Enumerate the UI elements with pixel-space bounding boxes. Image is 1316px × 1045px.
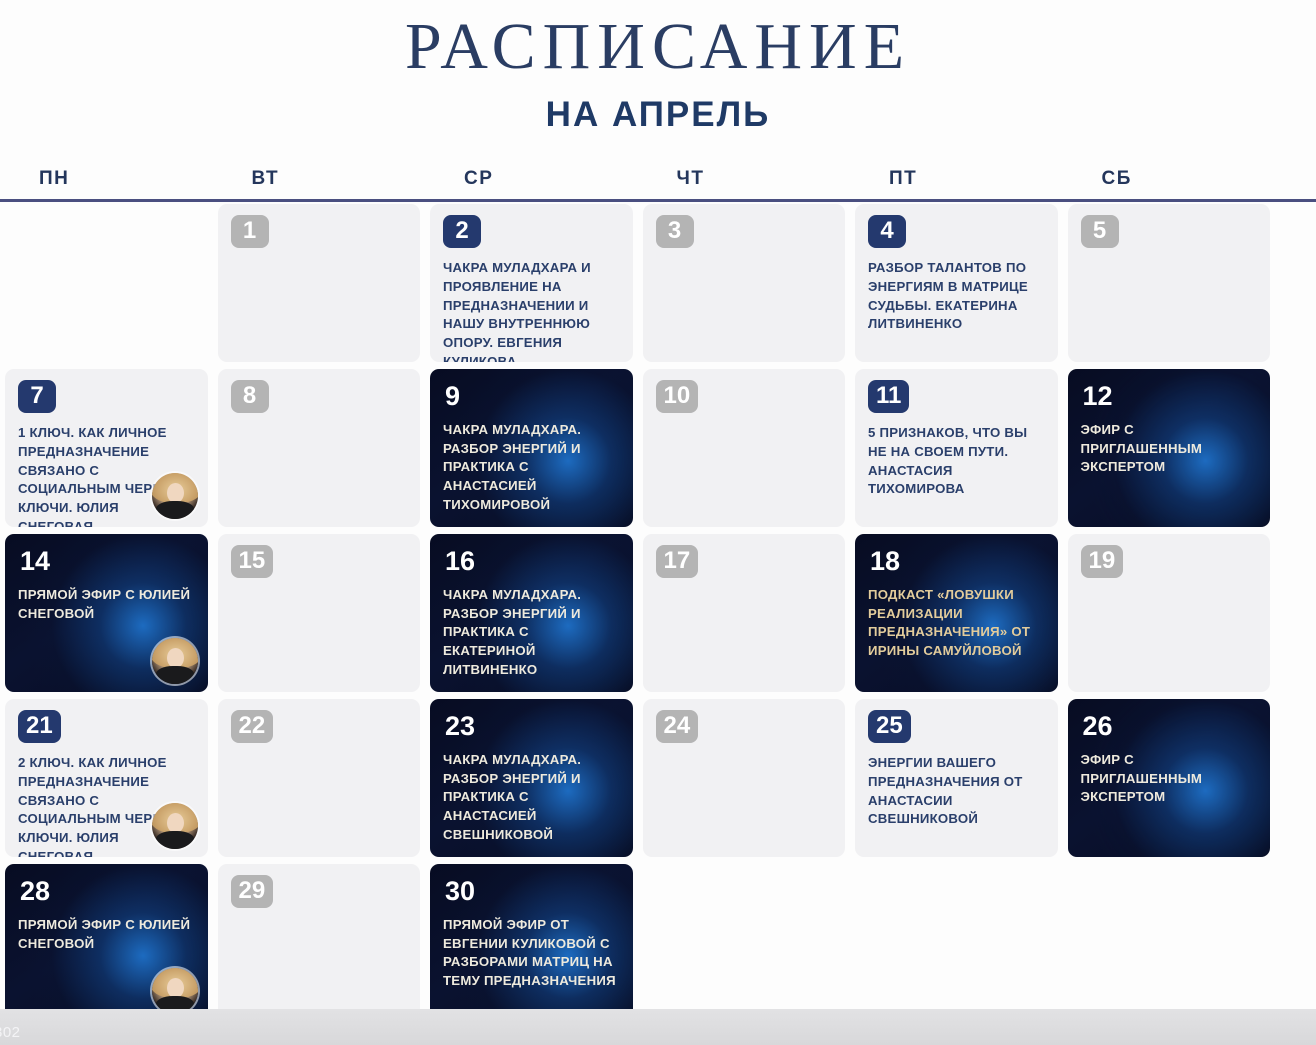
avatar-body — [156, 501, 194, 519]
date-number: 18 — [868, 545, 1045, 575]
avatar — [152, 968, 198, 1014]
event-description: ПОДКАСТ «ЛОВУШКИ РЕАЛИЗАЦИИ ПРЕДНАЗНАЧЕН… — [868, 586, 1045, 661]
avatar — [152, 473, 198, 519]
page-subtitle: НА АПРЕЛЬ — [0, 95, 1316, 135]
calendar-cell: 18ПОДКАСТ «ЛОВУШКИ РЕАЛИЗАЦИИ ПРЕДНАЗНАЧ… — [850, 532, 1063, 697]
event-card[interactable]: 14ПРЯМОЙ ЭФИР С ЮЛИЕЙ СНЕГОВОЙ — [5, 534, 208, 692]
calendar-cell: 8 — [213, 367, 426, 532]
event-card[interactable]: 115 ПРИЗНАКОВ, ЧТО ВЫ НЕ НА СВОЕМ ПУТИ. … — [855, 369, 1058, 527]
weekday-header-пн: ПН — [0, 168, 213, 202]
empty-slot — [643, 864, 846, 1022]
empty-slot — [1280, 699, 1316, 857]
calendar-cell: 19 — [1063, 532, 1276, 697]
weekday-header-row: ПНВТСРЧТПТСБ — [0, 168, 1316, 202]
avatar-body — [156, 831, 194, 849]
weekday-header-сб: СБ — [1063, 168, 1276, 202]
day-card: 22 — [218, 699, 421, 857]
event-description: ЧАКРА МУЛАДХАРА И ПРОЯВЛЕНИЕ НА ПРЕДНАЗН… — [443, 259, 620, 362]
calendar-cell — [1275, 202, 1316, 367]
date-number: 12 — [1081, 380, 1258, 410]
calendar-cell: 9ЧАКРА МУЛАДХАРА. РАЗБОР ЭНЕРГИЙ И ПРАКТ… — [425, 367, 638, 532]
date-badge: 4 — [868, 215, 906, 248]
event-card[interactable]: 9ЧАКРА МУЛАДХАРА. РАЗБОР ЭНЕРГИЙ И ПРАКТ… — [430, 369, 633, 527]
calendar-cell: 4РАЗБОР ТАЛАНТОВ ПО ЭНЕРГИЯМ В МАТРИЦЕ С… — [850, 202, 1063, 367]
calendar-cell: 10 — [638, 367, 851, 532]
day-card: 24 — [643, 699, 846, 857]
calendar-cell: 2ЧАКРА МУЛАДХАРА И ПРОЯВЛЕНИЕ НА ПРЕДНАЗ… — [425, 202, 638, 367]
day-card: 3 — [643, 204, 846, 362]
date-badge: 2 — [443, 215, 481, 248]
event-card[interactable]: 23ЧАКРА МУЛАДХАРА. РАЗБОР ЭНЕРГИЙ И ПРАК… — [430, 699, 633, 857]
empty-slot — [1068, 864, 1271, 1022]
event-description: ПРЯМОЙ ЭФИР С ЮЛИЕЙ СНЕГОВОЙ — [18, 586, 195, 623]
calendar-cell — [1275, 697, 1316, 862]
event-card[interactable]: 12ЭФИР С ПРИГЛАШЕННЫМ ЭКСПЕРТОМ — [1068, 369, 1271, 527]
date-badge: 3 — [656, 215, 694, 248]
avatar-face — [167, 813, 184, 833]
calendar-cell: 16ЧАКРА МУЛАДХАРА. РАЗБОР ЭНЕРГИЙ И ПРАК… — [425, 532, 638, 697]
date-badge: 5 — [1081, 215, 1119, 248]
cut-off-label: 302 — [0, 1024, 21, 1041]
empty-slot — [1280, 534, 1316, 692]
day-card: 10 — [643, 369, 846, 527]
avatar — [152, 803, 198, 849]
calendar-cell — [638, 862, 851, 1027]
event-description: 5 ПРИЗНАКОВ, ЧТО ВЫ НЕ НА СВОЕМ ПУТИ. АН… — [868, 424, 1045, 499]
day-card: 29 — [218, 864, 421, 1022]
day-card: 5 — [1068, 204, 1271, 362]
date-badge: 24 — [656, 710, 699, 743]
empty-slot — [1280, 864, 1316, 1022]
date-badge: 7 — [18, 380, 56, 413]
calendar-cell — [1275, 367, 1316, 532]
day-card: 8 — [218, 369, 421, 527]
date-number: 14 — [18, 545, 195, 575]
event-card[interactable]: 28ПРЯМОЙ ЭФИР С ЮЛИЕЙ СНЕГОВОЙ — [5, 864, 208, 1022]
event-description: ЭФИР С ПРИГЛАШЕННЫМ ЭКСПЕРТОМ — [1081, 421, 1258, 477]
event-description: ЭНЕРГИИ ВАШЕГО ПРЕДНАЗНАЧЕНИЯ ОТ АНАСТАС… — [868, 754, 1045, 829]
avatar — [152, 638, 198, 684]
date-number: 30 — [443, 875, 620, 905]
event-description: ПРЯМОЙ ЭФИР ОТ ЕВГЕНИИ КУЛИКОВОЙ С РАЗБО… — [443, 916, 620, 991]
date-badge: 15 — [231, 545, 274, 578]
avatar-face — [167, 483, 184, 503]
event-card[interactable]: 18ПОДКАСТ «ЛОВУШКИ РЕАЛИЗАЦИИ ПРЕДНАЗНАЧ… — [855, 534, 1058, 692]
avatar-face — [167, 648, 184, 668]
calendar-cell — [1063, 862, 1276, 1027]
calendar-grid: 12ЧАКРА МУЛАДХАРА И ПРОЯВЛЕНИЕ НА ПРЕДНА… — [0, 202, 1316, 1027]
date-badge: 11 — [868, 380, 909, 413]
event-description: ПРЯМОЙ ЭФИР С ЮЛИЕЙ СНЕГОВОЙ — [18, 916, 195, 953]
date-badge: 10 — [656, 380, 699, 413]
calendar-cell: 29 — [213, 862, 426, 1027]
event-description: ЧАКРА МУЛАДХАРА. РАЗБОР ЭНЕРГИЙ И ПРАКТИ… — [443, 751, 620, 845]
event-description: ЭФИР С ПРИГЛАШЕННЫМ ЭКСПЕРТОМ — [1081, 751, 1258, 807]
event-card[interactable]: 71 КЛЮЧ. КАК ЛИЧНОЕ ПРЕДНАЗНАЧЕНИЕ СВЯЗА… — [5, 369, 208, 527]
calendar-cell: 24 — [638, 697, 851, 862]
day-card: 19 — [1068, 534, 1271, 692]
calendar-cell: 71 КЛЮЧ. КАК ЛИЧНОЕ ПРЕДНАЗНАЧЕНИЕ СВЯЗА… — [0, 367, 213, 532]
calendar-cell: 28ПРЯМОЙ ЭФИР С ЮЛИЕЙ СНЕГОВОЙ — [0, 862, 213, 1027]
event-card[interactable]: 212 КЛЮЧ. КАК ЛИЧНОЕ ПРЕДНАЗНАЧЕНИЕ СВЯЗ… — [5, 699, 208, 857]
calendar-cell: 22 — [213, 697, 426, 862]
date-number: 28 — [18, 875, 195, 905]
calendar-cell — [1275, 532, 1316, 697]
day-card: 15 — [218, 534, 421, 692]
calendar-cell: 1 — [213, 202, 426, 367]
header-block: РАСПИСАНИЕ НА АПРЕЛЬ — [0, 0, 1316, 135]
date-number: 9 — [443, 380, 620, 410]
empty-slot — [855, 864, 1058, 1022]
empty-slot — [1280, 204, 1316, 362]
event-card[interactable]: 2ЧАКРА МУЛАДХАРА И ПРОЯВЛЕНИЕ НА ПРЕДНАЗ… — [430, 204, 633, 362]
day-card: 17 — [643, 534, 846, 692]
calendar-cell — [1275, 862, 1316, 1027]
calendar-cell: 3 — [638, 202, 851, 367]
date-badge: 25 — [868, 710, 911, 743]
date-badge: 17 — [656, 545, 699, 578]
event-card[interactable]: 4РАЗБОР ТАЛАНТОВ ПО ЭНЕРГИЯМ В МАТРИЦЕ С… — [855, 204, 1058, 362]
event-description: ЧАКРА МУЛАДХАРА. РАЗБОР ЭНЕРГИЙ И ПРАКТИ… — [443, 586, 620, 680]
date-number: 16 — [443, 545, 620, 575]
calendar-cell: 15 — [213, 532, 426, 697]
avatar-body — [156, 666, 194, 684]
date-number: 26 — [1081, 710, 1258, 740]
empty-slot — [5, 204, 208, 362]
date-badge: 22 — [231, 710, 274, 743]
event-description: ЧАКРА МУЛАДХАРА. РАЗБОР ЭНЕРГИЙ И ПРАКТИ… — [443, 421, 620, 515]
calendar-cell — [850, 862, 1063, 1027]
bottom-status-bar: 302 — [0, 1009, 1316, 1045]
day-card: 1 — [218, 204, 421, 362]
event-card[interactable]: 16ЧАКРА МУЛАДХАРА. РАЗБОР ЭНЕРГИЙ И ПРАК… — [430, 534, 633, 692]
calendar-cell: 14ПРЯМОЙ ЭФИР С ЮЛИЕЙ СНЕГОВОЙ — [0, 532, 213, 697]
calendar-cell: 5 — [1063, 202, 1276, 367]
calendar-cell: 26ЭФИР С ПРИГЛАШЕННЫМ ЭКСПЕРТОМ — [1063, 697, 1276, 862]
date-badge: 19 — [1081, 545, 1124, 578]
calendar-cell: 25ЭНЕРГИИ ВАШЕГО ПРЕДНАЗНАЧЕНИЯ ОТ АНАСТ… — [850, 697, 1063, 862]
calendar-cell: 212 КЛЮЧ. КАК ЛИЧНОЕ ПРЕДНАЗНАЧЕНИЕ СВЯЗ… — [0, 697, 213, 862]
weekday-header-ср: СР — [425, 168, 638, 202]
schedule-page: РАСПИСАНИЕ НА АПРЕЛЬ ПНВТСРЧТПТСБ 12ЧАКР… — [0, 0, 1316, 1045]
weekday-header-вт: ВТ — [213, 168, 426, 202]
event-card[interactable]: 30ПРЯМОЙ ЭФИР ОТ ЕВГЕНИИ КУЛИКОВОЙ С РАЗ… — [430, 864, 633, 1022]
date-badge: 29 — [231, 875, 274, 908]
date-badge: 1 — [231, 215, 269, 248]
date-badge: 8 — [231, 380, 269, 413]
calendar-cell: 23ЧАКРА МУЛАДХАРА. РАЗБОР ЭНЕРГИЙ И ПРАК… — [425, 697, 638, 862]
avatar-face — [167, 978, 184, 998]
event-card[interactable]: 25ЭНЕРГИИ ВАШЕГО ПРЕДНАЗНАЧЕНИЯ ОТ АНАСТ… — [855, 699, 1058, 857]
date-badge: 21 — [18, 710, 61, 743]
event-description: РАЗБОР ТАЛАНТОВ ПО ЭНЕРГИЯМ В МАТРИЦЕ СУ… — [868, 259, 1045, 334]
calendar-cell: 115 ПРИЗНАКОВ, ЧТО ВЫ НЕ НА СВОЕМ ПУТИ. … — [850, 367, 1063, 532]
calendar-cell: 30ПРЯМОЙ ЭФИР ОТ ЕВГЕНИИ КУЛИКОВОЙ С РАЗ… — [425, 862, 638, 1027]
calendar-cell: 17 — [638, 532, 851, 697]
page-title: РАСПИСАНИЕ — [0, 12, 1316, 81]
weekday-header-пт: ПТ — [850, 168, 1063, 202]
empty-slot — [1280, 369, 1316, 527]
event-card[interactable]: 26ЭФИР С ПРИГЛАШЕННЫМ ЭКСПЕРТОМ — [1068, 699, 1271, 857]
calendar-cell — [0, 202, 213, 367]
date-number: 23 — [443, 710, 620, 740]
weekday-header-чт: ЧТ — [638, 168, 851, 202]
calendar-cell: 12ЭФИР С ПРИГЛАШЕННЫМ ЭКСПЕРТОМ — [1063, 367, 1276, 532]
